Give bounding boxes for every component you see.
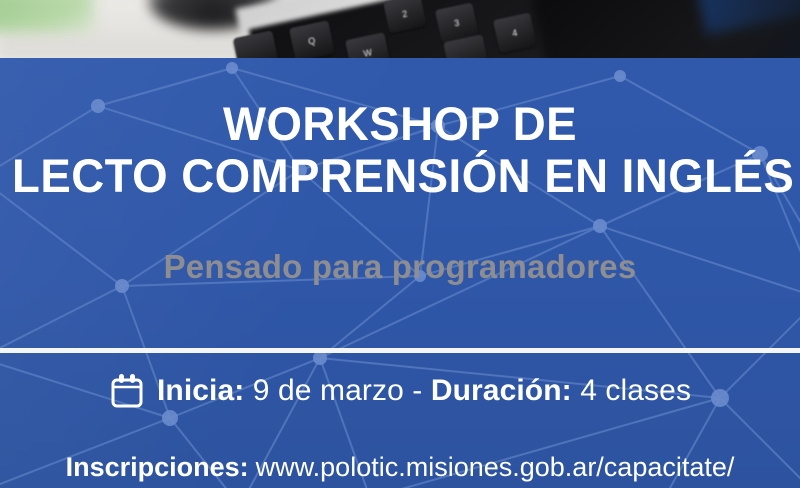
title-line-1: WORKSHOP DE [12, 98, 788, 150]
signup-url[interactable]: www.polotic.misiones.gob.ar/capacitate/ [256, 452, 735, 482]
course-date-row: Inicia: 9 de marzo - Duración: 4 clases [0, 372, 800, 410]
laptop-keyboard-photo: Q W 2 3 4 [0, 0, 800, 58]
signup-row: Inscripciones:www.polotic.misiones.gob.a… [0, 450, 800, 484]
workshop-promo-banner: Q W 2 3 4 [0, 0, 800, 488]
keyboard-key-q: Q [289, 20, 335, 58]
duration-label: Duración: [431, 374, 572, 407]
calendar-icon [109, 372, 145, 410]
start-label: Inicia: [157, 374, 244, 407]
green-object [0, 0, 94, 32]
section-divider [0, 348, 800, 353]
duration-value: 4 clases [580, 374, 691, 407]
banner-title: WORKSHOP DE LECTO COMPRENSIÓN EN INGLÉS [0, 98, 800, 202]
course-date-text: Inicia: 9 de marzo - Duración: 4 clases [157, 373, 691, 409]
date-separator: - [412, 374, 422, 407]
signup-label: Inscripciones: [66, 452, 249, 482]
banner-subtitle: Pensado para programadores [0, 247, 800, 287]
title-line-2: LECTO COMPRENSIÓN EN INGLÉS [12, 150, 788, 202]
start-value: 9 de marzo [253, 374, 404, 407]
